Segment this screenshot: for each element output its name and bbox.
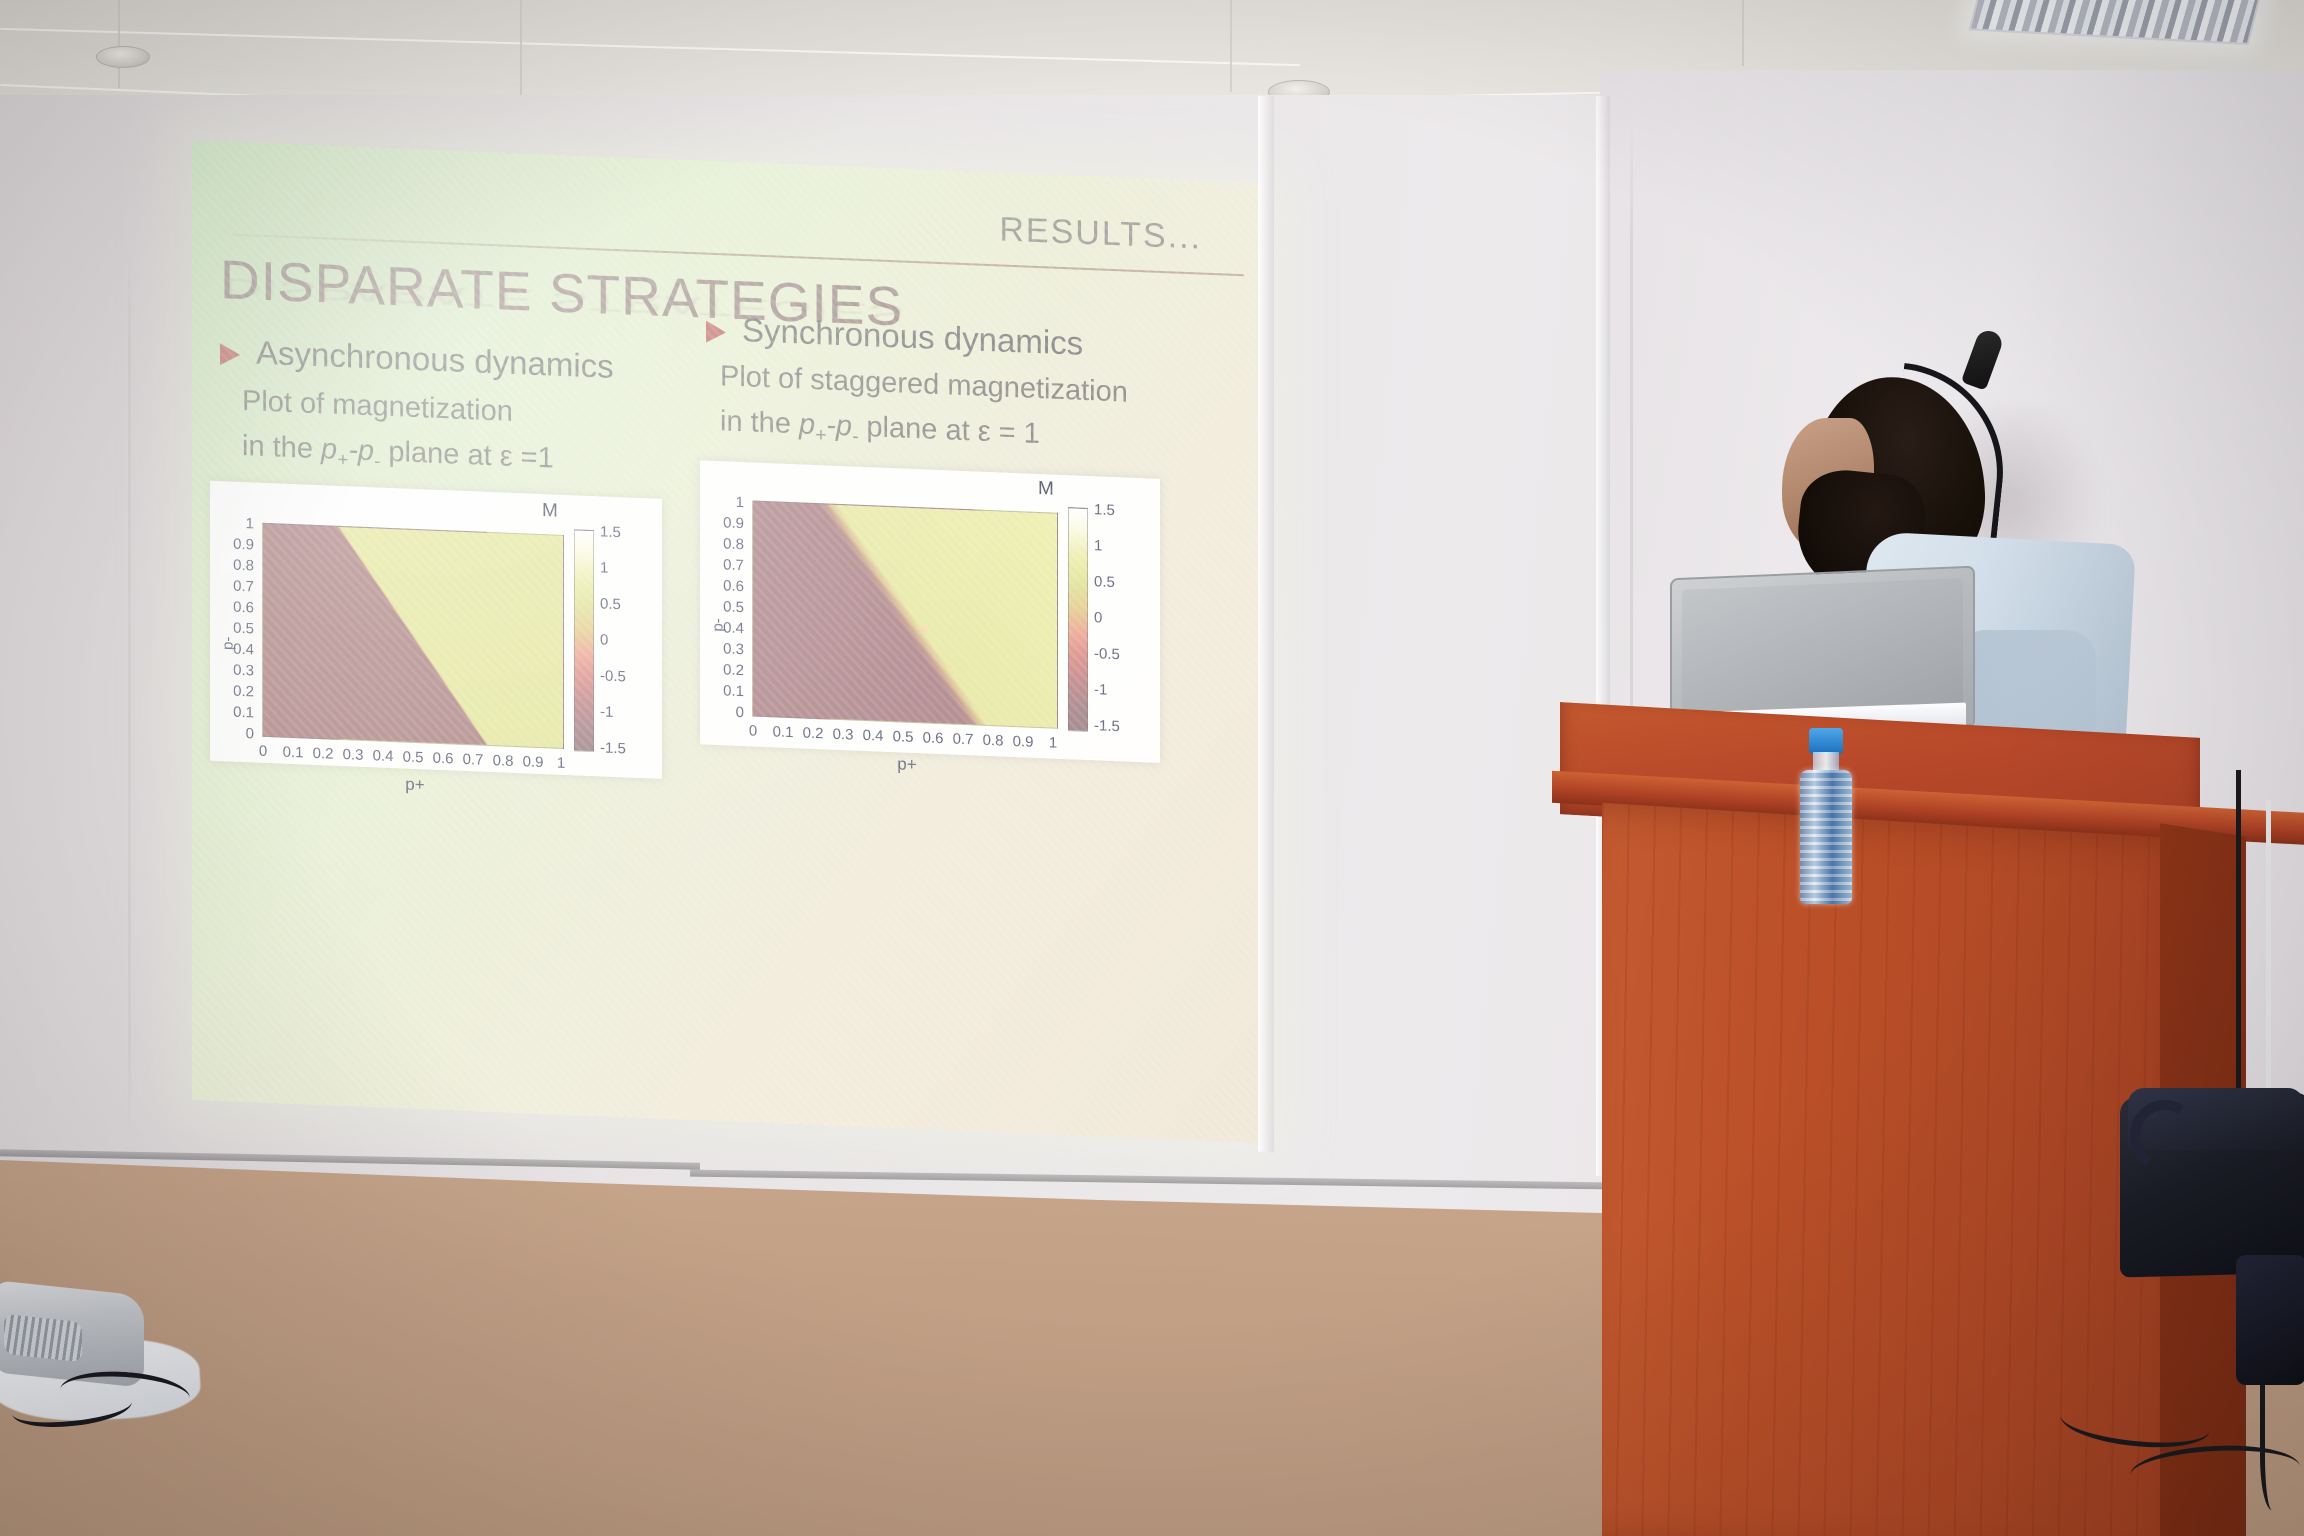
chart-card-asynchronous: M p- 1 0.9 0.8 0.7 0.6 0.5 0.4 0.3 0.2 0 (210, 481, 662, 779)
projection-screen: RESULTS... DISPARATE STRATEGIES DISPARAT… (192, 140, 1262, 1143)
arrow-bullet-icon (220, 343, 240, 366)
heatmap-surface (262, 523, 564, 749)
ceiling-vent (96, 46, 150, 68)
colorbar-title: M (1038, 478, 1054, 501)
x-tick: 0.9 (1008, 733, 1038, 751)
bullet-row-asynchronous: Asynchronous dynamics (214, 333, 694, 389)
chart-card-synchronous: M p- 1 0.9 0.8 0.7 0.6 0.5 0.4 0.3 0.2 0… (700, 460, 1160, 762)
microphone-capsule-icon (1961, 327, 2005, 390)
colorbar-tick: -1.5 (1094, 717, 1120, 735)
colorbar-title: M (542, 500, 558, 523)
ceiling-grid-line (1742, 0, 1744, 66)
x-tick: 0.6 (428, 749, 458, 767)
y-tick: 1 (216, 514, 254, 533)
slide-column-right: Synchronous dynamics Plot of staggered m… (700, 310, 1230, 464)
y-tick: 0 (706, 703, 744, 722)
y-tick: 0.7 (706, 556, 744, 575)
y-tick: 0.3 (216, 661, 254, 680)
ceiling-grid-line (1230, 0, 1232, 92)
x-axis-label: p+ (360, 773, 470, 797)
colorbar-tick: -0.5 (1094, 645, 1120, 663)
y-tick: 0.8 (706, 535, 744, 554)
colorbar-tick: -1 (600, 703, 613, 721)
y-tick: 0.5 (216, 619, 254, 638)
colorbar-tick: 1 (1094, 537, 1102, 554)
colorbar-tick: 1 (600, 559, 608, 576)
chart-asynchronous: M p- 1 0.9 0.8 0.7 0.6 0.5 0.4 0.3 0.2 0 (210, 481, 662, 779)
heatmap-surface (752, 500, 1058, 728)
colorbar-tick: 0.5 (600, 595, 621, 613)
x-tick: 0 (248, 742, 278, 760)
wall-seam (128, 250, 131, 1140)
x-tick: 0.1 (278, 743, 308, 761)
arrow-bullet-icon (706, 321, 726, 344)
x-tick: 0.9 (518, 753, 548, 771)
y-tick: 0.3 (706, 640, 744, 659)
slide-column-left: Asynchronous dynamics Plot of magnetizat… (214, 333, 694, 487)
bullet-subline-2: in the p+-p- plane at ε =1 (214, 427, 694, 487)
subline-math: p+-p- (799, 408, 858, 442)
subline-prefix: in the (242, 430, 321, 465)
x-tick: 0.6 (918, 729, 948, 747)
subline-prefix: in the (720, 405, 799, 440)
x-axis-label: p+ (852, 753, 962, 777)
subline-suffix: plane at ε =1 (380, 436, 553, 475)
x-tick: 0.1 (768, 723, 798, 741)
slide-content: RESULTS... DISPARATE STRATEGIES DISPARAT… (192, 140, 1262, 1143)
y-tick: 0.1 (706, 682, 744, 701)
x-tick: 0.8 (488, 752, 518, 770)
slide-kicker: RESULTS... (999, 210, 1202, 257)
x-tick: 1 (550, 754, 572, 772)
x-tick: 0.3 (828, 726, 858, 744)
colorbar-tick: 0 (1094, 609, 1102, 626)
colorbar (574, 529, 594, 752)
heatmap-artifact (921, 626, 928, 631)
y-tick: 0.5 (706, 598, 744, 617)
x-tick: 0.7 (948, 730, 978, 748)
y-tick: 0.9 (216, 535, 254, 554)
colorbar-tick: -1.5 (600, 739, 626, 757)
x-tick: 1 (1042, 734, 1064, 752)
y-tick: 0 (216, 724, 254, 743)
x-tick: 0 (738, 722, 768, 740)
x-tick: 0.3 (338, 746, 368, 764)
bottle-body (1800, 770, 1852, 904)
chart-synchronous: M p- 1 0.9 0.8 0.7 0.6 0.5 0.4 0.3 0.2 0… (700, 460, 1160, 762)
colorbar-tick: 0.5 (1094, 573, 1115, 591)
y-tick: 0.2 (216, 682, 254, 701)
colorbar (1068, 507, 1088, 732)
x-tick: 0.5 (888, 728, 918, 746)
x-tick: 0.4 (858, 727, 888, 745)
bottle-cap (1809, 728, 1843, 754)
screen-right-edge (1258, 96, 1274, 1153)
subline-math: p+-p- (321, 433, 380, 467)
ceiling-grid-line (118, 0, 120, 88)
colorbar-tick: -0.5 (600, 667, 626, 685)
colorbar-tick: 0 (600, 631, 608, 648)
y-tick: 0.7 (216, 577, 254, 596)
x-tick: 0.7 (458, 751, 488, 769)
colorbar-tick: 1.5 (1094, 501, 1115, 519)
x-tick: 0.2 (798, 724, 828, 742)
bullet-label: Synchronous dynamics (742, 312, 1230, 369)
room-scene: RESULTS... DISPARATE STRATEGIES DISPARAT… (0, 0, 2304, 1536)
x-tick: 0.4 (368, 747, 398, 765)
bottle-neck (1813, 752, 1839, 772)
water-bottle (1798, 728, 1854, 904)
bullet-label: Asynchronous dynamics (256, 335, 694, 390)
y-tick: 0.6 (216, 598, 254, 617)
subline-suffix: plane at ε = 1 (858, 411, 1039, 450)
presenter-and-podium (1560, 330, 2304, 1536)
second-bag (2236, 1255, 2304, 1385)
x-tick: 0.5 (398, 748, 428, 766)
x-tick: 0.8 (978, 732, 1008, 750)
x-tick: 0.2 (308, 745, 338, 763)
colorbar-tick: -1 (1094, 681, 1107, 699)
colorbar-tick: 1.5 (600, 523, 621, 541)
y-tick: 0.8 (216, 556, 254, 575)
y-tick: 0.4 (706, 619, 744, 638)
y-tick: 0.2 (706, 661, 744, 680)
projector-vent-icon (4, 1314, 82, 1362)
y-tick: 0.1 (216, 703, 254, 722)
y-tick: 1 (706, 493, 744, 512)
y-tick: 0.4 (216, 640, 254, 659)
y-tick: 0.6 (706, 577, 744, 596)
y-tick: 0.9 (706, 514, 744, 533)
